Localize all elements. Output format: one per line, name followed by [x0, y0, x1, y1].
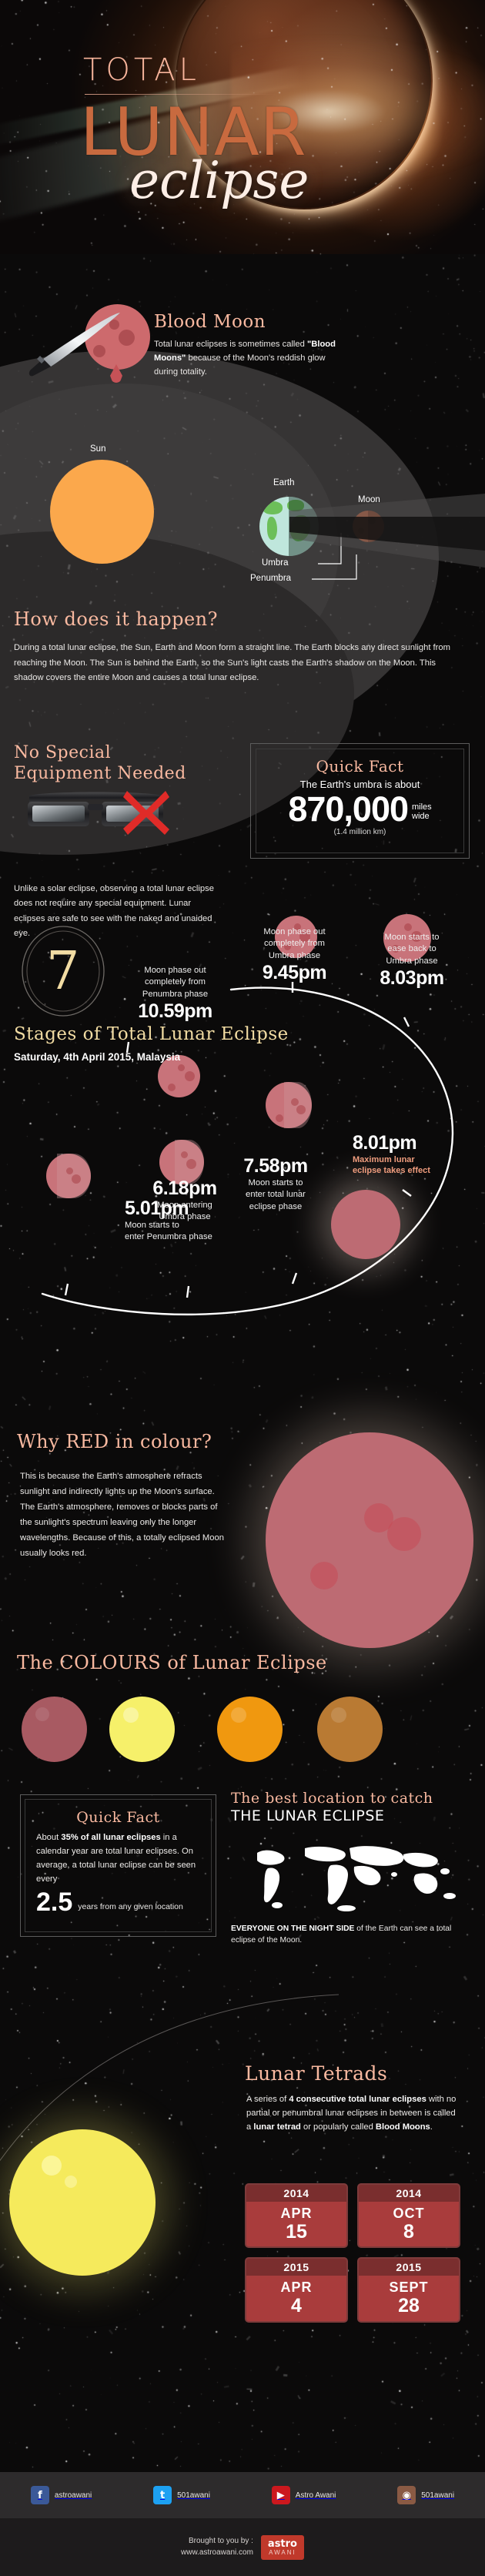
social-link-twitter[interactable]: t 501awani: [153, 2486, 210, 2504]
lunar-tetrads-body: A series of 4 consecutive total lunar ec…: [246, 2093, 462, 2135]
timeline-time-7: 10.59pm: [127, 1000, 223, 1023]
timeline-caption-5: Moon starts to ease back to Umbra phase: [366, 932, 458, 967]
stage-count-number: 7: [20, 924, 106, 1018]
colour-swatch-yellow: [109, 1697, 175, 1762]
best-location-title-1: The best location to catch: [231, 1790, 470, 1807]
social-handle-instagram: 501awani: [421, 2491, 454, 2500]
timeline-caption-3: Moon starts to enter total lunar eclipse…: [229, 1177, 322, 1213]
colours-section: The COLOURS of Lunar Eclipse: [0, 1644, 485, 1783]
colours-title: The COLOURS of Lunar Eclipse: [17, 1652, 327, 1673]
timeline-caption-7: Moon phase out completely from Penumbra …: [127, 965, 223, 1000]
timeline-point-5: Moon starts to ease back to Umbra phase …: [366, 932, 458, 990]
sun-circle: [50, 460, 154, 564]
logo-text-astro: astro: [268, 2539, 297, 2549]
social-link-facebook[interactable]: f astroawani: [31, 2486, 92, 2504]
colour-swatch-dark-red: [22, 1697, 87, 1762]
timeline-point-7: Moon phase out completely from Penumbra …: [127, 965, 223, 1023]
why-red-section: Why RED in colour? This is because the E…: [0, 1409, 485, 1663]
timeline-time-6: 9.45pm: [246, 962, 343, 984]
how-body: During a total lunar eclipse, the Sun, E…: [14, 641, 453, 686]
calendar-month: OCT: [359, 2202, 459, 2222]
calendar-month: SEPT: [359, 2276, 459, 2296]
social-handle-youtube: Astro Awani: [296, 2491, 336, 2500]
calendar-day: 28: [359, 2296, 459, 2320]
calendar-year: 2015: [359, 2259, 459, 2276]
red-x-icon: [122, 788, 171, 837]
why-red-title: Why RED in colour?: [17, 1431, 212, 1452]
stages-section: 7 Stages of Total Lunar Eclipse Saturday…: [0, 905, 485, 1405]
stage-count-number-wrap: 7: [20, 924, 106, 1018]
hero-banner: TOTAL LUNAR eclipse: [0, 0, 485, 254]
no-equipment-title-line2: Equipment Needed: [14, 764, 237, 785]
timeline-point-2: 6.18pm Moon entering Umbra phase: [139, 1177, 230, 1224]
astro-awani-logo[interactable]: astro AWANI: [261, 2535, 304, 2560]
calendar-day: 4: [246, 2296, 346, 2320]
quick-fact-2-card: Quick Fact About 35% of all lunar eclips…: [20, 1794, 216, 1937]
social-handle-facebook: astroawani: [55, 2491, 92, 2500]
how-title: How does it happen?: [14, 608, 471, 630]
tet-text-1: A series of: [246, 2095, 289, 2104]
colour-swatch-orange: [217, 1697, 283, 1762]
timeline-point-6: Moon phase out completely from Umbra pha…: [246, 926, 343, 984]
calendar-day: 8: [359, 2222, 459, 2246]
stage-moon-2: [46, 1154, 91, 1198]
quick-fact-2-body-3: years from any given location: [78, 1901, 183, 1914]
social-link-youtube[interactable]: ▶ Astro Awani: [272, 2486, 336, 2504]
timeline-time-2: 6.18pm: [139, 1177, 230, 1200]
sun-label: Sun: [90, 444, 105, 454]
logo-text-awani: AWANI: [268, 2549, 297, 2556]
quick-fact-1-unit-1: miles: [412, 802, 432, 812]
calendar-day: 15: [246, 2222, 346, 2246]
brand-bar: Brought to you by : www.astroawani.com a…: [0, 2518, 485, 2576]
quick-fact-1-subtitle: The Earth's umbra is about: [263, 779, 457, 790]
best-location-caption: EVERYONE ON THE NIGHT SIDE of the Earth …: [231, 1923, 470, 1947]
timeline-caption-2: Moon entering Umbra phase: [139, 1200, 230, 1224]
lunar-tetrads-section: Lunar Tetrads A series of 4 consecutive …: [0, 1979, 485, 2464]
tet-text-3: or popularly called: [301, 2122, 376, 2132]
facebook-icon: f: [31, 2486, 49, 2504]
tet-text-4: .: [430, 2122, 433, 2132]
twitter-icon: t: [153, 2486, 172, 2504]
qf2-text-bold: 35% of all lunar eclipses: [61, 1833, 160, 1842]
calendar-card: 2014 APR 15: [245, 2183, 348, 2248]
instagram-icon: ◉: [397, 2486, 416, 2504]
social-handle-twitter: 501awani: [177, 2491, 210, 2500]
timeline-time-5: 8.03pm: [366, 967, 458, 990]
social-bar: f astroawani t 501awani ▶ Astro Awani ◉ …: [0, 2472, 485, 2518]
tet-bold-3: Blood Moons: [376, 2122, 430, 2132]
calendar-card: 2014 OCT 8: [357, 2183, 460, 2248]
quick-fact-1-paren: (1.4 million km): [263, 828, 457, 836]
umbra-label: Umbra: [262, 558, 289, 568]
knife-icon: [22, 308, 125, 377]
youtube-icon: ▶: [272, 2486, 290, 2504]
hero-title-eclipse: eclipse: [129, 151, 309, 210]
quick-fact-1-card: Quick Fact The Earth's umbra is about 87…: [250, 743, 470, 859]
hero-divider: [85, 94, 277, 95]
tet-bold-2: lunar tetrad: [253, 2122, 301, 2132]
calendar-month: APR: [246, 2202, 346, 2222]
timeline-time-4: 8.01pm: [353, 1132, 468, 1154]
calendar-month: APR: [246, 2276, 346, 2296]
earth-label: Earth: [273, 478, 295, 487]
timeline-time-3: 7.58pm: [229, 1155, 322, 1177]
tetrad-calendar-grid: 2014 APR 15 2014 OCT 8 2015 APR 4 2015 S…: [245, 2183, 460, 2323]
timeline-caption-6: Moon phase out completely from Umbra pha…: [246, 926, 343, 962]
stages-subheading: Saturday, 4th April 2015, Malaysia: [14, 1051, 180, 1063]
how-it-happens-section: How does it happen? During a total lunar…: [14, 608, 471, 686]
hero-title-total: TOTAL: [83, 52, 200, 88]
why-red-body: This is because the Earth's atmosphere r…: [20, 1469, 228, 1562]
lunar-tetrads-title: Lunar Tetrads: [245, 2062, 387, 2085]
quick-fact-1-number: 870,000: [288, 792, 408, 826]
quick-fact-2-title: Quick Fact: [36, 1809, 200, 1826]
colour-swatch-brown: [317, 1697, 383, 1762]
stage-moon-max: [331, 1190, 400, 1259]
timeline-point-4: 8.01pm Maximum lunar eclipse takes effec…: [353, 1132, 468, 1177]
tetrad-sun-circle: [9, 2129, 156, 2276]
stages-heading: Stages of Total Lunar Eclipse: [14, 1024, 289, 1044]
social-link-instagram[interactable]: ◉ 501awani: [397, 2486, 454, 2504]
blood-moon-section: Blood Moon Total lunar eclipses is somet…: [0, 254, 485, 439]
timeline-note-4: Maximum lunar eclipse takes effect: [353, 1154, 468, 1177]
quick-fact-2-body: About 35% of all lunar eclipses in a cal…: [36, 1831, 200, 1887]
red-moon-illustration: [266, 1432, 473, 1648]
no-equipment-title-line1: No Special: [14, 743, 237, 764]
world-map-icon: [231, 1831, 462, 1916]
calendar-card: 2015 SEPT 28: [357, 2257, 460, 2322]
quick-fact-1-title: Quick Fact: [263, 757, 457, 775]
timeline-point-3: 7.58pm Moon starts to enter total lunar …: [229, 1155, 322, 1213]
quick-fact-2-number: 2.5: [36, 1889, 72, 1915]
calendar-year: 2014: [246, 2185, 346, 2202]
bl-caption-bold: EVERYONE ON THE NIGHT SIDE: [231, 1924, 354, 1933]
quick-fact-1-unit-2: wide: [412, 812, 432, 822]
blood-moon-body: Total lunar eclipses is sometimes called…: [154, 337, 346, 379]
calendar-year: 2014: [359, 2185, 459, 2202]
best-location-title-2: THE LUNAR ECLIPSE: [231, 1807, 470, 1825]
calendar-card: 2015 APR 4: [245, 2257, 348, 2322]
blood-moon-title: Blood Moon: [154, 312, 266, 332]
qf2-text-1: About: [36, 1833, 61, 1842]
sun-earth-moon-diagram: Sun Earth Moon Umbra Penumbra: [0, 420, 485, 612]
best-location-section: The best location to catch THE LUNAR ECL…: [231, 1790, 470, 1947]
stage-moon-4: [266, 1082, 312, 1128]
calendar-year: 2015: [246, 2259, 346, 2276]
tet-bold-1: 4 consecutive total lunar eclipses: [289, 2095, 426, 2104]
bm-text-1: Total lunar eclipses is sometimes called: [154, 340, 307, 349]
penumbra-label: Penumbra: [250, 574, 291, 583]
brand-line-2: www.astroawani.com: [181, 2548, 253, 2559]
brand-line-1: Brought to you by :: [181, 2536, 253, 2548]
umbra-penumbra-shadow: [289, 494, 485, 582]
